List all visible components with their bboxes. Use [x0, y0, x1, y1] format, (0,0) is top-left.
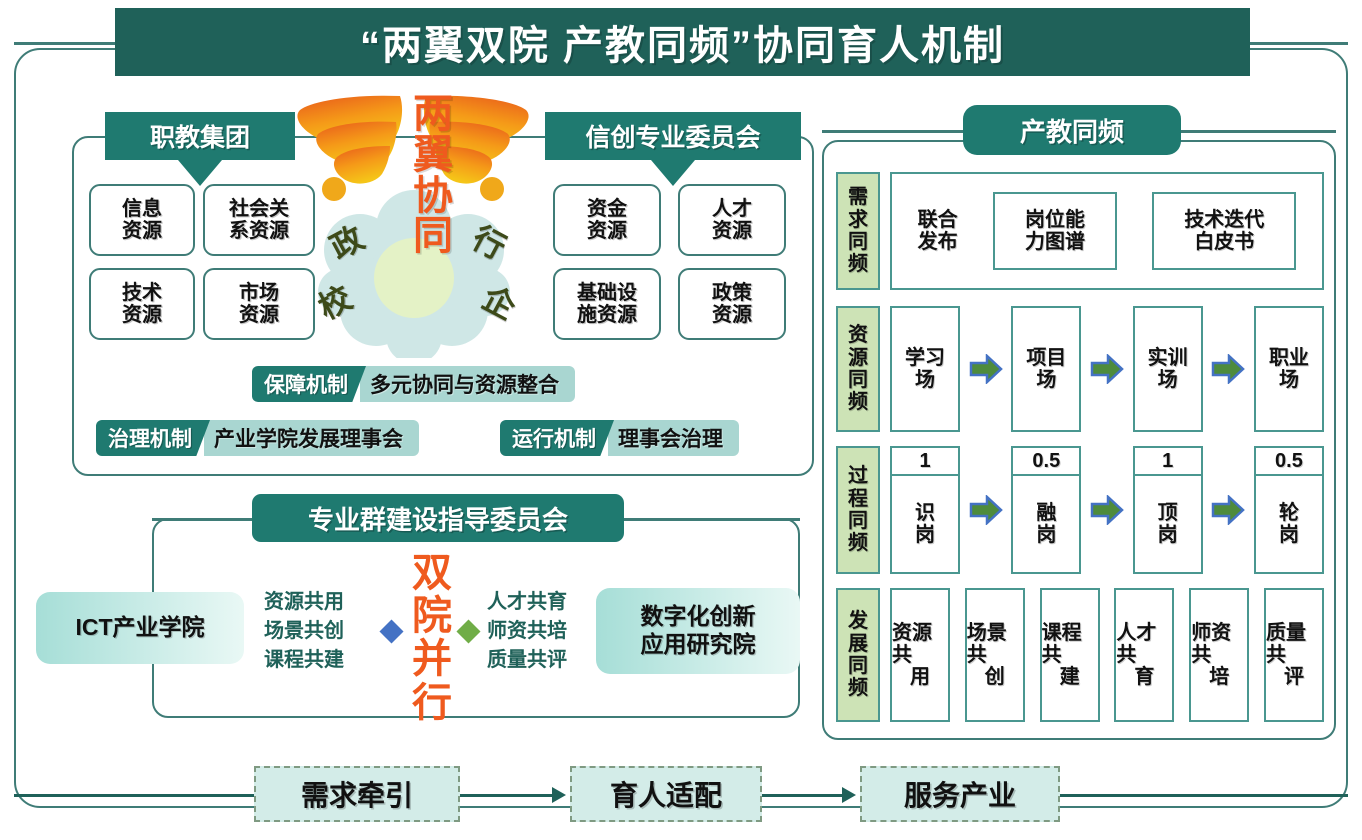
table-row: 发 展 同 频 资源共 用 场景共 创 课程共 建 人才共 育 师资共 — [836, 588, 1324, 722]
cell-shared-resources[interactable]: 资源共 用 — [890, 588, 950, 722]
dual-header-rule-right — [614, 518, 800, 521]
resource-box[interactable]: 信息 资源 — [89, 184, 195, 256]
mechanism-value: 产业学院发展理事会 — [204, 420, 419, 456]
institute-line: 数字化创新 — [641, 603, 756, 631]
arrow-right-icon — [1090, 354, 1124, 384]
resource-line: 资源 — [712, 304, 752, 326]
pointer-down-icon — [178, 160, 222, 186]
diagram-canvas: “两翼双院 产教同频”协同育人机制 职教集团 信创专业委员会 信息 资源 社会关… — [0, 0, 1362, 840]
resource-line: 资源 — [712, 220, 752, 242]
center-slogan-char: 同 — [413, 216, 453, 257]
title-rule-right — [1249, 42, 1348, 45]
cell-co-trained-faculty[interactable]: 师资共 培 — [1189, 588, 1249, 722]
table-row: 过 程 同 频 1 识 岗 0.5 融 岗 — [836, 446, 1324, 574]
shared-item: 课程共建 — [264, 646, 382, 675]
cell-job-competency-map[interactable]: 岗位能 力图谱 — [993, 192, 1117, 270]
resource-box[interactable]: 技术 资源 — [89, 268, 195, 340]
cell-tech-iteration-whitepaper[interactable]: 技术迭代 白皮书 — [1152, 192, 1296, 270]
right-header-rule-right — [1180, 130, 1336, 133]
resource-line: 资源 — [239, 304, 279, 326]
page-title-text: “两翼双院 产教同频”协同育人机制 — [360, 13, 1005, 71]
table-row: 需 求 同 频 联合 发布 岗位能 力图谱 技术迭代 白皮书 — [836, 172, 1324, 290]
cell-learning-field[interactable]: 学习 场 — [890, 306, 960, 432]
ict-industry-college-label: ICT产业学院 — [75, 614, 204, 642]
title-rule-left — [14, 42, 116, 45]
mechanism-value: 多元协同与资源整合 — [360, 366, 575, 402]
cell-project-field[interactable]: 项目 场 — [1011, 306, 1081, 432]
arrow-right-icon — [1090, 495, 1124, 525]
row-label-resource: 资 源 同 频 — [836, 306, 880, 432]
shared-items-right: 人才共育 师资共培 质量共评 — [487, 588, 605, 674]
row-label-process: 过 程 同 频 — [836, 446, 880, 574]
mechanism-key: 保障机制 — [252, 366, 366, 402]
flow-step-label: 育人适配 — [610, 774, 722, 814]
shared-item: 场景共创 — [264, 617, 382, 646]
cell-co-educated-talent[interactable]: 人才共 育 — [1114, 588, 1174, 722]
header-xinchuang-committee[interactable]: 信创专业委员会 — [545, 112, 801, 160]
cell-rotation-post[interactable]: 0.5 轮 岗 — [1254, 446, 1324, 574]
right-header-rule-left — [822, 130, 964, 133]
arrow-right-icon — [1211, 354, 1245, 384]
mechanism-chip-guarantee[interactable]: 保障机制 多元协同与资源整合 — [252, 366, 575, 402]
resource-line: 社会关 — [229, 198, 289, 220]
shared-item: 质量共评 — [487, 646, 605, 675]
header-vocational-group[interactable]: 职教集团 — [105, 112, 295, 160]
flow-step-serve-industry[interactable]: 服务产业 — [860, 766, 1060, 822]
resource-line: 资源 — [122, 304, 162, 326]
resource-box[interactable]: 资金 资源 — [553, 184, 661, 256]
arrow-head-icon — [842, 787, 856, 803]
dual-slogan: 双 院 并 行 — [404, 552, 460, 725]
credit-value: 0.5 — [1256, 448, 1322, 476]
resource-box[interactable]: 人才 资源 — [678, 184, 786, 256]
dual-slogan-char: 并 — [412, 638, 452, 681]
shared-items-left: 资源共用 场景共创 课程共建 — [264, 588, 382, 674]
mechanism-value: 理事会治理 — [608, 420, 739, 456]
resource-line: 系资源 — [229, 220, 289, 242]
cell-recognize-post[interactable]: 1 识 岗 — [890, 446, 960, 574]
page-title: “两翼双院 产教同频”协同育人机制 — [115, 8, 1250, 76]
shared-item: 资源共用 — [264, 588, 382, 617]
resource-line: 技术 — [122, 282, 162, 304]
resource-line: 基础设 — [577, 282, 637, 304]
pointer-down-icon — [651, 160, 695, 186]
row-group-container: 联合 发布 岗位能 力图谱 技术迭代 白皮书 — [890, 172, 1324, 290]
resource-line: 政策 — [712, 282, 752, 304]
resource-line: 资源 — [122, 220, 162, 242]
digital-innovation-institute-box[interactable]: 数字化创新 应用研究院 — [596, 588, 800, 674]
cell-internship-post[interactable]: 1 顶 岗 — [1133, 446, 1203, 574]
center-slogan: 两 翼 协 同 — [405, 94, 461, 257]
flow-line-1 — [460, 794, 554, 797]
center-slogan-char: 协 — [413, 176, 453, 217]
cell-integrate-post[interactable]: 0.5 融 岗 — [1011, 446, 1081, 574]
header-program-committee[interactable]: 专业群建设指导委员会 — [252, 494, 624, 542]
resource-box[interactable]: 市场 资源 — [203, 268, 315, 340]
flow-step-label: 服务产业 — [904, 774, 1016, 814]
arrow-right-icon — [1211, 495, 1245, 525]
dual-slogan-char: 行 — [412, 682, 452, 725]
arrow-head-icon — [552, 787, 566, 803]
dual-header-rule-left — [152, 518, 262, 521]
flow-line-start — [14, 794, 254, 797]
row-body: 资源共 用 场景共 创 课程共 建 人才共 育 师资共 培 质量共 评 — [890, 588, 1324, 722]
row-body: 学习 场 项目 场 实训 场 职业 场 — [890, 306, 1324, 432]
dual-slogan-char: 双 — [412, 552, 452, 595]
row-label-development: 发 展 同 频 — [836, 588, 880, 722]
institute-line: 应用研究院 — [641, 631, 756, 659]
credit-value: 1 — [892, 448, 958, 476]
resource-line: 资源 — [587, 220, 627, 242]
mechanism-key: 运行机制 — [500, 420, 614, 456]
center-slogan-char: 翼 — [413, 135, 453, 176]
header-xinchuang-committee-label: 信创专业委员会 — [585, 118, 760, 154]
credit-value: 0.5 — [1013, 448, 1079, 476]
mechanism-chip-operation[interactable]: 运行机制 理事会治理 — [500, 420, 739, 456]
row-body: 1 识 岗 0.5 融 岗 1 — [890, 446, 1324, 574]
credit-value: 1 — [1135, 448, 1201, 476]
arrow-right-icon — [969, 354, 1003, 384]
flow-step-label: 需求牵引 — [301, 774, 413, 814]
mechanism-chip-governance[interactable]: 治理机制 产业学院发展理事会 — [96, 420, 419, 456]
ict-industry-college-box[interactable]: ICT产业学院 — [36, 592, 244, 664]
cell-training-field[interactable]: 实训 场 — [1133, 306, 1203, 432]
arrow-right-icon — [969, 495, 1003, 525]
resource-line: 施资源 — [577, 304, 637, 326]
cell-joint-release[interactable]: 联合 发布 — [918, 209, 958, 253]
header-program-committee-label: 专业群建设指导委员会 — [308, 500, 568, 537]
header-industry-education-sync[interactable]: 产教同频 — [963, 105, 1181, 155]
flow-step-talent-fit[interactable]: 育人适配 — [570, 766, 762, 822]
resource-line: 资金 — [587, 198, 627, 220]
flow-line-2 — [762, 794, 844, 797]
row-body: 联合 发布 岗位能 力图谱 技术迭代 白皮书 — [890, 172, 1324, 290]
mechanism-key: 治理机制 — [96, 420, 210, 456]
header-vocational-group-label: 职教集团 — [150, 118, 250, 154]
resource-box[interactable]: 基础设 施资源 — [553, 268, 661, 340]
shared-item: 师资共培 — [487, 617, 605, 646]
flow-step-demand[interactable]: 需求牵引 — [254, 766, 460, 822]
shared-item: 人才共育 — [487, 588, 605, 617]
resource-line: 人才 — [712, 198, 752, 220]
header-industry-education-sync-label: 产教同频 — [1020, 112, 1124, 149]
resource-line: 市场 — [239, 282, 279, 304]
flow-line-end — [1060, 794, 1348, 797]
row-label-demand: 需 求 同 频 — [836, 172, 880, 290]
cell-career-field[interactable]: 职业 场 — [1254, 306, 1324, 432]
dual-slogan-char: 院 — [412, 595, 452, 638]
cell-co-created-scenarios[interactable]: 场景共 创 — [965, 588, 1025, 722]
cell-co-built-courses[interactable]: 课程共 建 — [1040, 588, 1100, 722]
resource-box[interactable]: 政策 资源 — [678, 268, 786, 340]
center-slogan-char: 两 — [413, 94, 453, 135]
resource-line: 信息 — [122, 198, 162, 220]
cell-co-evaluated-quality[interactable]: 质量共 评 — [1264, 588, 1324, 722]
table-row: 资 源 同 频 学习 场 项目 场 实训 场 — [836, 306, 1324, 432]
